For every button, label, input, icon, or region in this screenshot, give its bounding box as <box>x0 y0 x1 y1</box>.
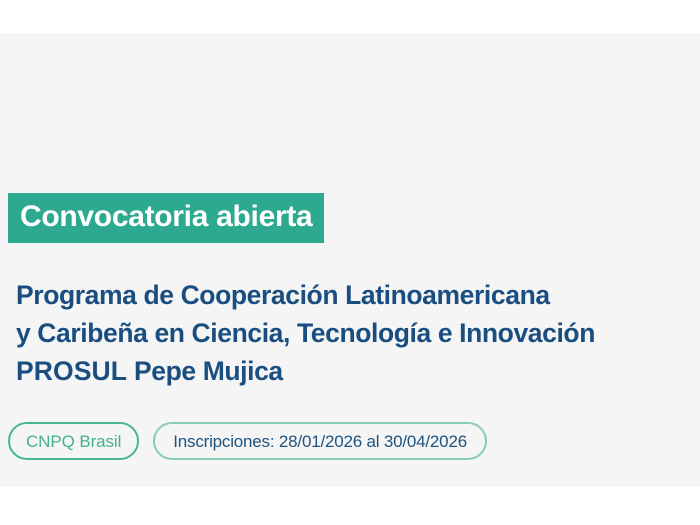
metadata-pill-row: CNPQ Brasil Inscripciones: 28/01/2026 al… <box>8 422 487 460</box>
status-badge: Convocatoria abierta <box>8 193 324 243</box>
announcement-card: Convocatoria abierta Programa de Coopera… <box>0 33 700 487</box>
page-title: Programa de Cooperación Latinoamericana … <box>16 276 692 390</box>
program-acronym: PROSUL <box>16 356 127 386</box>
page-title-line-3: PROSUL Pepe Mujica <box>16 352 692 390</box>
registration-dates-pill[interactable]: Inscripciones: 28/01/2026 al 30/04/2026 <box>153 422 487 460</box>
agency-pill[interactable]: CNPQ Brasil <box>8 422 139 460</box>
program-person-name: Pepe Mujica <box>134 356 283 386</box>
page-title-line-2: y Caribeña en Ciencia, Tecnología e Inno… <box>16 314 692 352</box>
page-title-line-1: Programa de Cooperación Latinoamericana <box>16 276 692 314</box>
